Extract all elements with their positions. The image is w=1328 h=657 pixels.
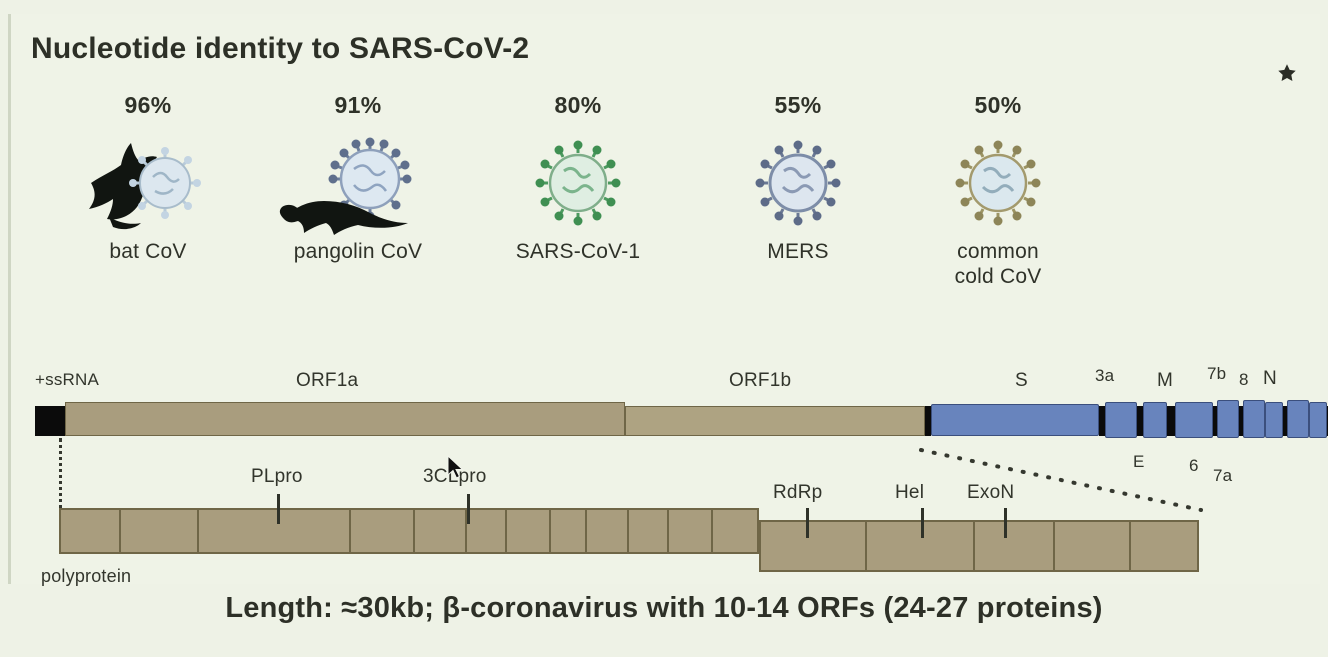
pangolin-coronavirus-icon <box>263 131 453 239</box>
mers-virus-icon <box>703 131 893 239</box>
identity-percent: 55% <box>703 92 893 119</box>
gene-segment-8 <box>1287 400 1309 438</box>
gene-segment-7a <box>1243 400 1265 438</box>
gene-label-n: N <box>1263 368 1277 390</box>
five-prime-cap-segment <box>35 406 65 436</box>
tick-hel <box>921 508 924 538</box>
gene-segment-6 <box>1217 400 1239 438</box>
enzyme-label-exon: ExoN <box>967 482 1014 504</box>
gene-segment-7b <box>1265 402 1283 438</box>
gene-segment-e <box>1143 402 1167 438</box>
virus-column-sars-cov-1: 80% <box>483 92 673 264</box>
gene-segment-s <box>931 404 1099 436</box>
identity-percent: 96% <box>53 92 243 119</box>
tick-rdrp <box>806 508 809 538</box>
slide-canvas: Nucleotide identity to SARS-CoV-2 96% <box>0 0 1328 657</box>
connector-dotted-diagonal <box>911 440 1311 520</box>
virus-label: common cold CoV <box>903 239 1093 289</box>
sars-cov-1-virus-icon <box>483 131 673 239</box>
gene-label-7b: 7b <box>1207 364 1226 384</box>
identity-percent: 91% <box>263 92 453 119</box>
virus-column-common-cold-cov: 50% <box>903 92 1093 289</box>
diagram-panel: Nucleotide identity to SARS-CoV-2 96% <box>8 14 1320 584</box>
virus-column-bat-cov: 96% <box>53 92 243 264</box>
ssrna-label: +ssRNA <box>35 370 99 390</box>
tick-exon <box>1004 508 1007 538</box>
common-cold-coronavirus-icon <box>903 131 1093 239</box>
polyprotein-bar-nsp12-16 <box>759 520 1199 572</box>
bat-coronavirus-icon <box>53 131 243 239</box>
genome-caption: Length: ≈30kb; β-coronavirus with 10-14 … <box>0 592 1328 625</box>
virus-label: MERS <box>703 239 893 264</box>
gene-label-m: M <box>1157 370 1173 392</box>
orf1a-label: ORF1a <box>296 370 358 392</box>
virus-column-mers: 55% <box>703 92 893 264</box>
orf1b-segment <box>625 406 925 436</box>
orf1b-label: ORF1b <box>729 370 791 392</box>
virus-label: pangolin CoV <box>263 239 453 264</box>
enzyme-label-rdrp: RdRp <box>773 482 822 504</box>
genome-diagram: +ssRNA ORF1a ORF1b S 3a M 7b 8 N E 6 7a <box>11 344 1323 584</box>
genome-spacer <box>1167 406 1175 436</box>
gene-segment-n <box>1309 402 1327 438</box>
virus-label: SARS-CoV-1 <box>483 239 673 264</box>
orf1a-segment <box>65 402 625 436</box>
enzyme-label-hel: Hel <box>895 482 924 504</box>
virus-column-pangolin-cov: 91% <box>263 92 453 264</box>
protease-label-plpro: PLpro <box>251 466 303 488</box>
gene-label-8: 8 <box>1239 370 1249 390</box>
gene-label-s: S <box>1015 370 1028 392</box>
star-icon[interactable] <box>1276 62 1298 84</box>
polyprotein-label: polyprotein <box>41 566 131 587</box>
polyprotein-bar-nsp1-11 <box>59 508 759 554</box>
identity-percent: 80% <box>483 92 673 119</box>
tick-3clpro <box>467 494 470 524</box>
virus-label: bat CoV <box>53 239 243 264</box>
page-title: Nucleotide identity to SARS-CoV-2 <box>31 32 529 66</box>
tick-plpro <box>277 494 280 524</box>
identity-percent: 50% <box>903 92 1093 119</box>
gene-segment-m <box>1175 402 1213 438</box>
genome-bar <box>35 402 1315 436</box>
mouse-cursor <box>446 455 466 481</box>
gene-label-3a: 3a <box>1095 366 1114 386</box>
gene-segment-3a <box>1105 402 1137 438</box>
virus-comparison-row: 96% <box>31 92 1271 332</box>
